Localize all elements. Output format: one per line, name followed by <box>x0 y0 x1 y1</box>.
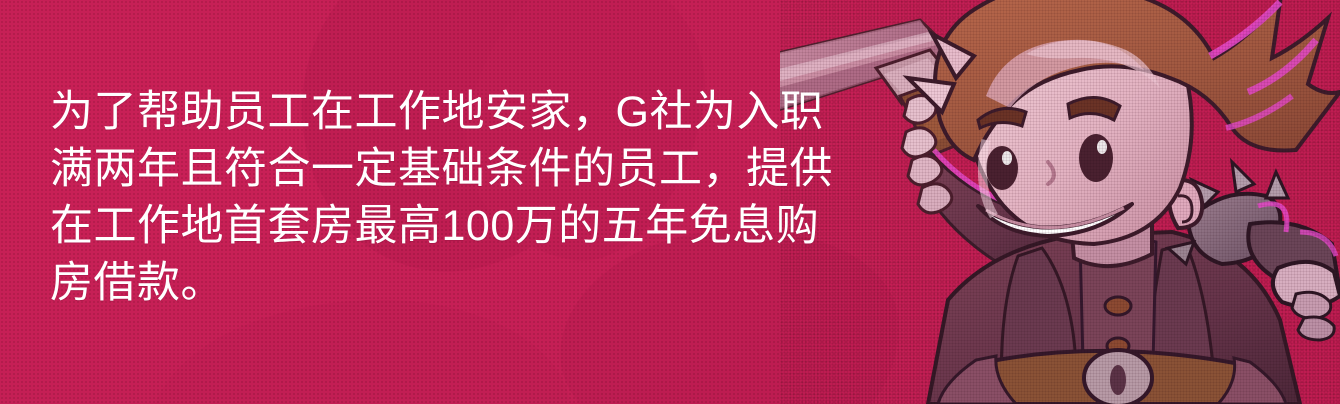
copy-line-4: 房借款。 <box>50 255 810 312</box>
promo-banner: 为了帮助员工在工作地安家，G社为入职 满两年且符合一定基础条件的员工，提供 在工… <box>0 0 1340 404</box>
warrior-character-illustration <box>780 0 1340 404</box>
copy-line-3: 在工作地首套房最高100万的五年免息购 <box>50 198 810 255</box>
watermark-shape-d <box>150 300 570 404</box>
copy-line-2: 满两年且符合一定基础条件的员工，提供 <box>50 141 810 198</box>
copy-line-1: 为了帮助员工在工作地安家，G社为入职 <box>50 84 810 141</box>
banner-copy: 为了帮助员工在工作地安家，G社为入职 满两年且符合一定基础条件的员工，提供 在工… <box>50 84 810 312</box>
